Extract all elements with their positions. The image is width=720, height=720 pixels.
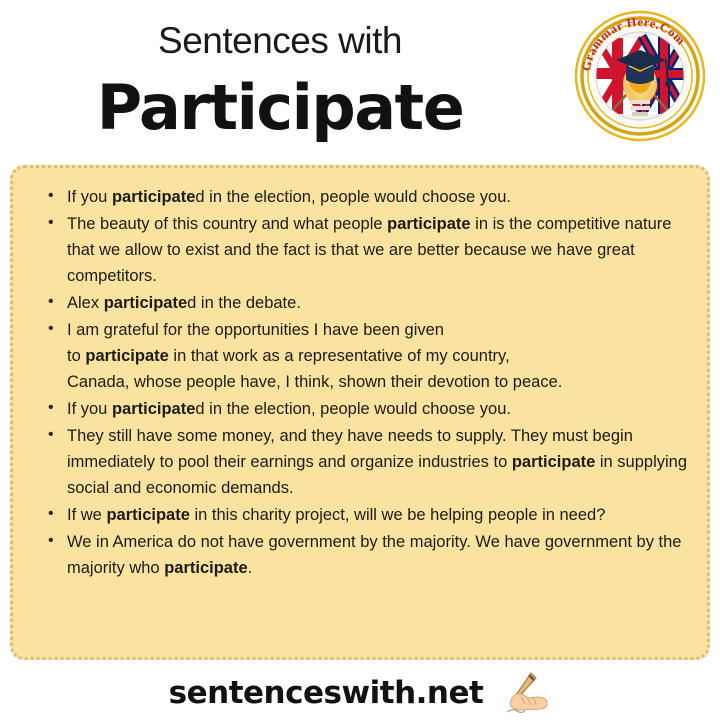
list-item: They still have some money, and they hav… bbox=[45, 423, 689, 501]
sentence-list: If you participated in the election, peo… bbox=[13, 168, 707, 581]
page-footer: sentenceswith.net bbox=[0, 665, 720, 720]
list-item: If you participated in the election, peo… bbox=[45, 396, 689, 422]
list-item: I am grateful for the opportunities I ha… bbox=[45, 317, 689, 395]
list-item: If you participated in the election, peo… bbox=[45, 184, 689, 210]
header-title-block: Sentences with Participate bbox=[0, 0, 560, 139]
page-title: Participate bbox=[0, 77, 560, 139]
writing-hand-icon bbox=[497, 670, 551, 716]
list-item: If we participate in this charity projec… bbox=[45, 502, 689, 528]
list-item: The beauty of this country and what peop… bbox=[45, 211, 689, 289]
list-item: Alex participated in the debate. bbox=[45, 290, 689, 316]
site-name[interactable]: sentenceswith.net bbox=[169, 675, 484, 711]
english-grammar-here-logo[interactable]: English Grammar Here.Com bbox=[572, 8, 708, 144]
page-subtitle: Sentences with bbox=[0, 22, 560, 59]
sentences-card: If you participated in the election, peo… bbox=[10, 165, 710, 660]
page-header: Sentences with Participate bbox=[0, 0, 720, 160]
list-item: We in America do not have government by … bbox=[45, 529, 689, 581]
